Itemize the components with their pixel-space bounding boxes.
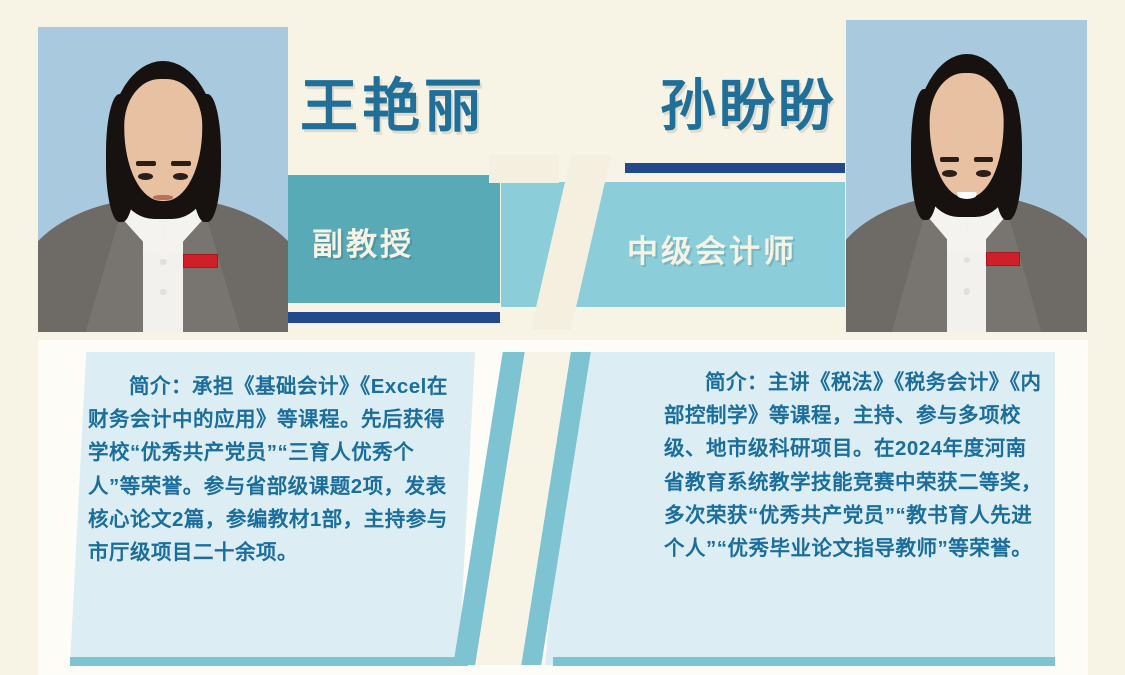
photo-button-2 xyxy=(160,289,167,295)
photo-badge xyxy=(986,252,1020,266)
photo-brow-left xyxy=(940,157,959,162)
photo-eye-right xyxy=(976,170,990,177)
photo-button-1 xyxy=(160,259,167,265)
navy-accent-left xyxy=(288,312,500,323)
faculty-profile-slide: 王艳丽 副教授 孙盼盼 中级会计师 简介：承担《基础会计》《Excel在财务会计… xyxy=(0,0,1125,675)
name-sun-panpan: 孙盼盼 xyxy=(660,78,837,134)
photo-sun-panpan xyxy=(846,20,1087,332)
name-wang-yanli: 王艳丽 xyxy=(300,78,486,136)
bio-text-wang-yanli: 简介：承担《基础会计》《Excel在财务会计中的应用》等课程。先后获得学校“优秀… xyxy=(88,370,458,569)
photo-eye-left xyxy=(942,170,956,177)
title-panel-wang-yanli: 副教授 xyxy=(288,175,500,303)
left-margin xyxy=(0,0,38,675)
title-label-wang-yanli: 副教授 xyxy=(312,219,414,264)
photo-brow-right xyxy=(171,161,191,166)
photo-brow-left xyxy=(136,161,156,166)
diagonal-divider-top-corner xyxy=(489,155,559,183)
bio-bottom-bar-right xyxy=(553,657,1055,666)
photo-badge xyxy=(183,254,218,268)
photo-wang-yanli xyxy=(38,27,288,332)
right-margin xyxy=(1088,0,1125,675)
bio-text-sun-panpan: 简介：主讲《税法》《税务会计》《内部控制学》等课程，主持、参与多项校级、地市级科… xyxy=(664,366,1042,565)
navy-accent-right xyxy=(625,163,845,173)
photo-button-1 xyxy=(963,257,969,264)
title-label-sun-panpan: 中级会计师 xyxy=(627,226,797,271)
bio-bottom-bar-left xyxy=(70,657,468,666)
photo-brow-right xyxy=(974,157,993,162)
photo-button-2 xyxy=(963,288,969,295)
